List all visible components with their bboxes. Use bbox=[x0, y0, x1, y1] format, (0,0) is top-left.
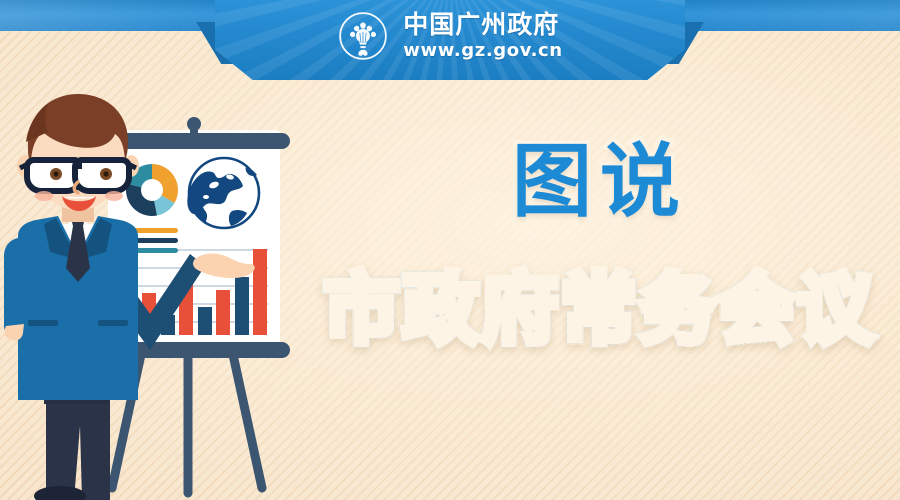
person-suit bbox=[4, 214, 138, 400]
illustration-businessman-presenting bbox=[0, 88, 330, 500]
globe-icon bbox=[187, 158, 259, 228]
website-url[interactable]: www.gz.gov.cn bbox=[403, 42, 562, 60]
glasses-icon bbox=[20, 160, 136, 191]
guangzhou-kapok-emblem-icon bbox=[337, 10, 389, 62]
person-legs bbox=[44, 388, 110, 500]
person-shoe bbox=[34, 486, 86, 500]
header-text-group: 中国广州政府 www.gz.gov.cn bbox=[403, 12, 562, 60]
poster-canvas: 中国广州政府 www.gz.gov.cn bbox=[0, 0, 900, 500]
easel-top-bar bbox=[100, 133, 290, 149]
header-ribbon: 中国广州政府 www.gz.gov.cn bbox=[0, 0, 900, 95]
header-brand[interactable]: 中国广州政府 www.gz.gov.cn bbox=[215, 0, 685, 72]
org-name: 中国广州政府 bbox=[403, 12, 559, 37]
title-line-2: 市政府常务会议 bbox=[300, 270, 900, 350]
poster-title-block: 图说 市政府常务会议 市政府常务会议 bbox=[300, 140, 900, 370]
title-line-1: 图说 bbox=[300, 140, 900, 224]
